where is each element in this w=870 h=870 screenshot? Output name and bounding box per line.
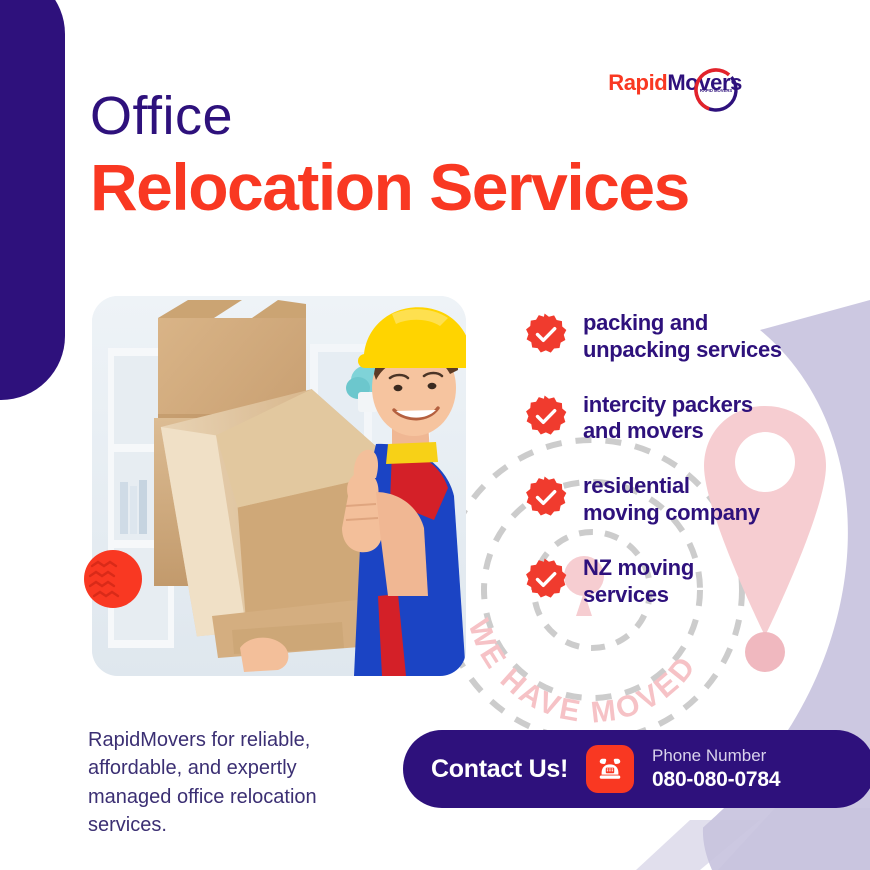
headline-line-2: Relocation Services — [90, 151, 689, 225]
features-list: packing and unpacking services intercity… — [525, 310, 870, 637]
page-title: Office Relocation Services — [90, 88, 689, 225]
list-item[interactable]: residential moving company — [525, 473, 870, 527]
phone-info: Phone Number 080-080-0784 — [652, 745, 780, 793]
phone-number-label: Phone Number — [652, 745, 780, 766]
hero-photo — [92, 296, 466, 676]
rapidmovers-ring-logo-icon: RAPID MOVERS — [690, 64, 742, 116]
feature-label: packing and unpacking services — [583, 310, 782, 364]
phone-number-value: 080-080-0784 — [652, 767, 780, 793]
feature-label: residential moving company — [583, 473, 760, 527]
check-badge-icon — [525, 558, 567, 600]
check-badge-icon — [525, 476, 567, 518]
telephone-icon — [586, 745, 634, 793]
list-item[interactable]: NZ moving services — [525, 555, 870, 609]
headline-line-1: Office — [90, 88, 689, 145]
list-item[interactable]: packing and unpacking services — [525, 310, 870, 364]
list-item[interactable]: intercity packers and movers — [525, 392, 870, 446]
check-badge-icon — [525, 313, 567, 355]
mover-photo-illustration — [92, 296, 466, 676]
contact-bar[interactable]: Contact Us! Phone Number 080-0 — [403, 730, 870, 808]
lavender-tail — [636, 820, 760, 870]
feature-label: intercity packers and movers — [583, 392, 753, 446]
lavender-diagonal-band — [718, 808, 870, 870]
contact-us-label: Contact Us! — [431, 755, 568, 784]
check-badge-icon — [525, 395, 567, 437]
description-text: RapidMovers for reliable, affordable, an… — [88, 726, 370, 840]
poster-canvas: RapidMovers RAPID MOVERS Office Relocati… — [0, 0, 870, 870]
red-circle-accent — [84, 550, 142, 608]
navy-accent-bar — [0, 0, 65, 400]
logo-inner-label: RAPID MOVERS — [700, 88, 733, 93]
zigzag-pattern-icon — [84, 550, 142, 608]
feature-label: NZ moving services — [583, 555, 694, 609]
